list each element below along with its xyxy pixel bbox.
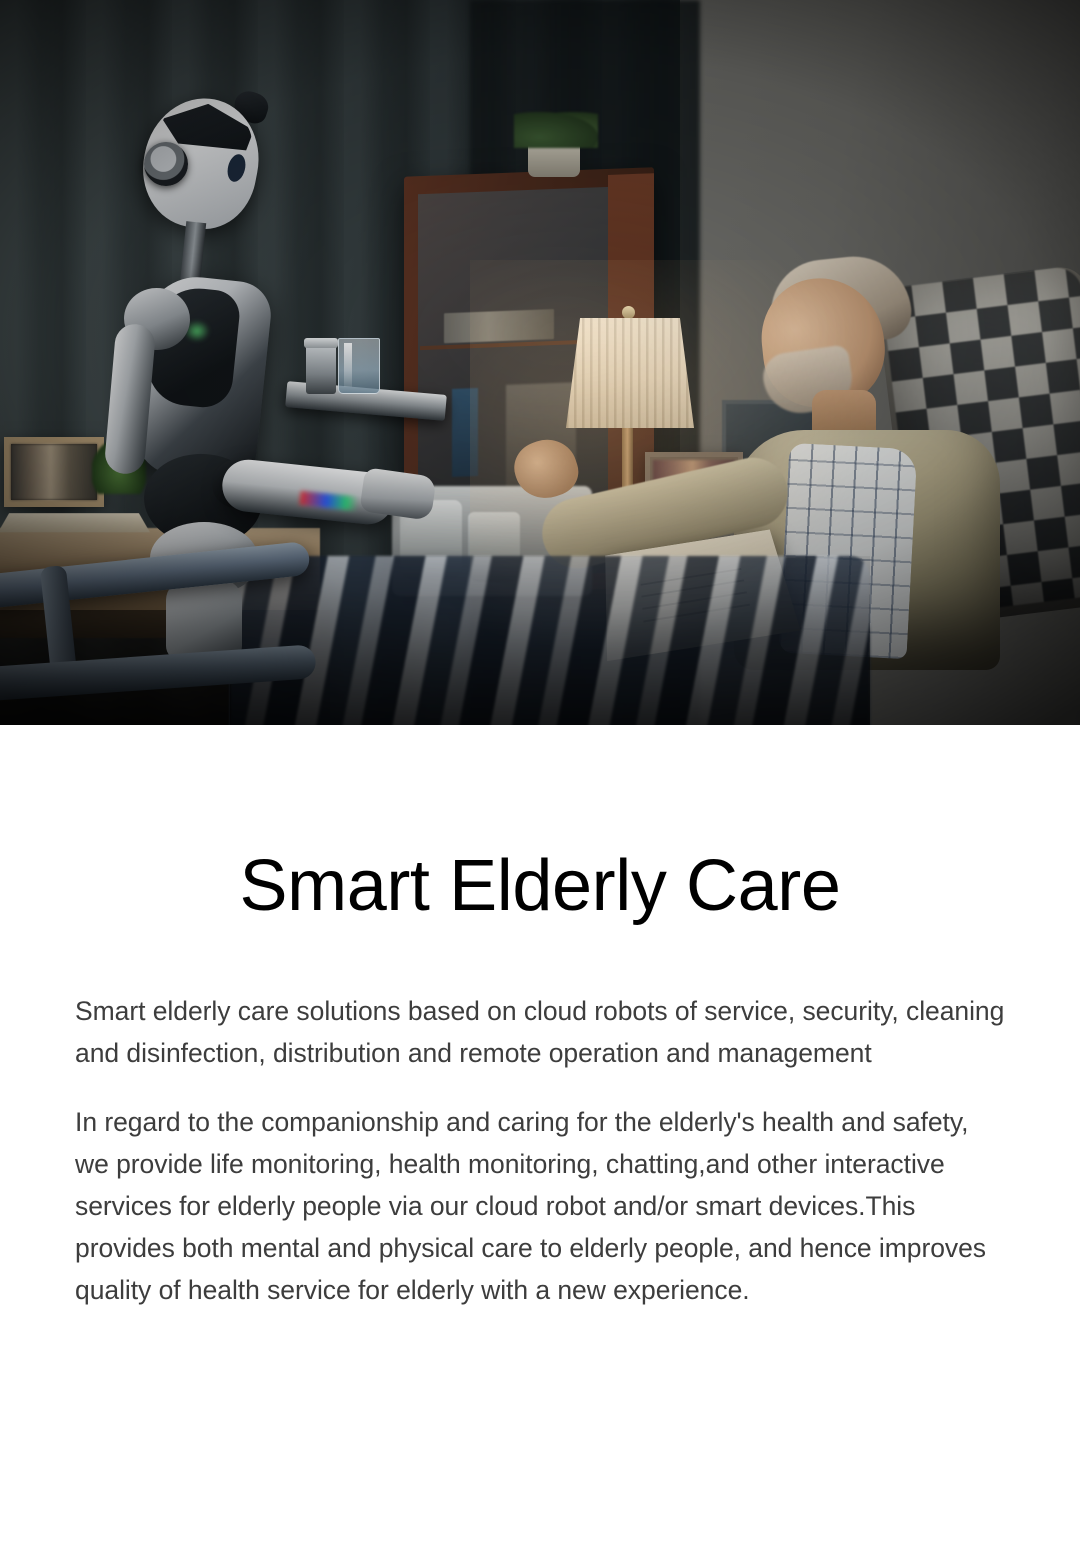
body-copy: Smart elderly care solutions based on cl… [73, 990, 1007, 1311]
image-vignette [0, 0, 1080, 725]
page-root: Smart Elderly Care Smart elderly care so… [0, 0, 1080, 1561]
hero-image [0, 0, 1080, 725]
content-section: Smart Elderly Care Smart elderly care so… [0, 725, 1080, 1311]
page-title: Smart Elderly Care [0, 850, 1080, 922]
hero-scene [0, 0, 1080, 725]
paragraph-summary: Smart elderly care solutions based on cl… [75, 990, 1007, 1074]
paragraph-details: In regard to the companionship and carin… [75, 1101, 1007, 1311]
